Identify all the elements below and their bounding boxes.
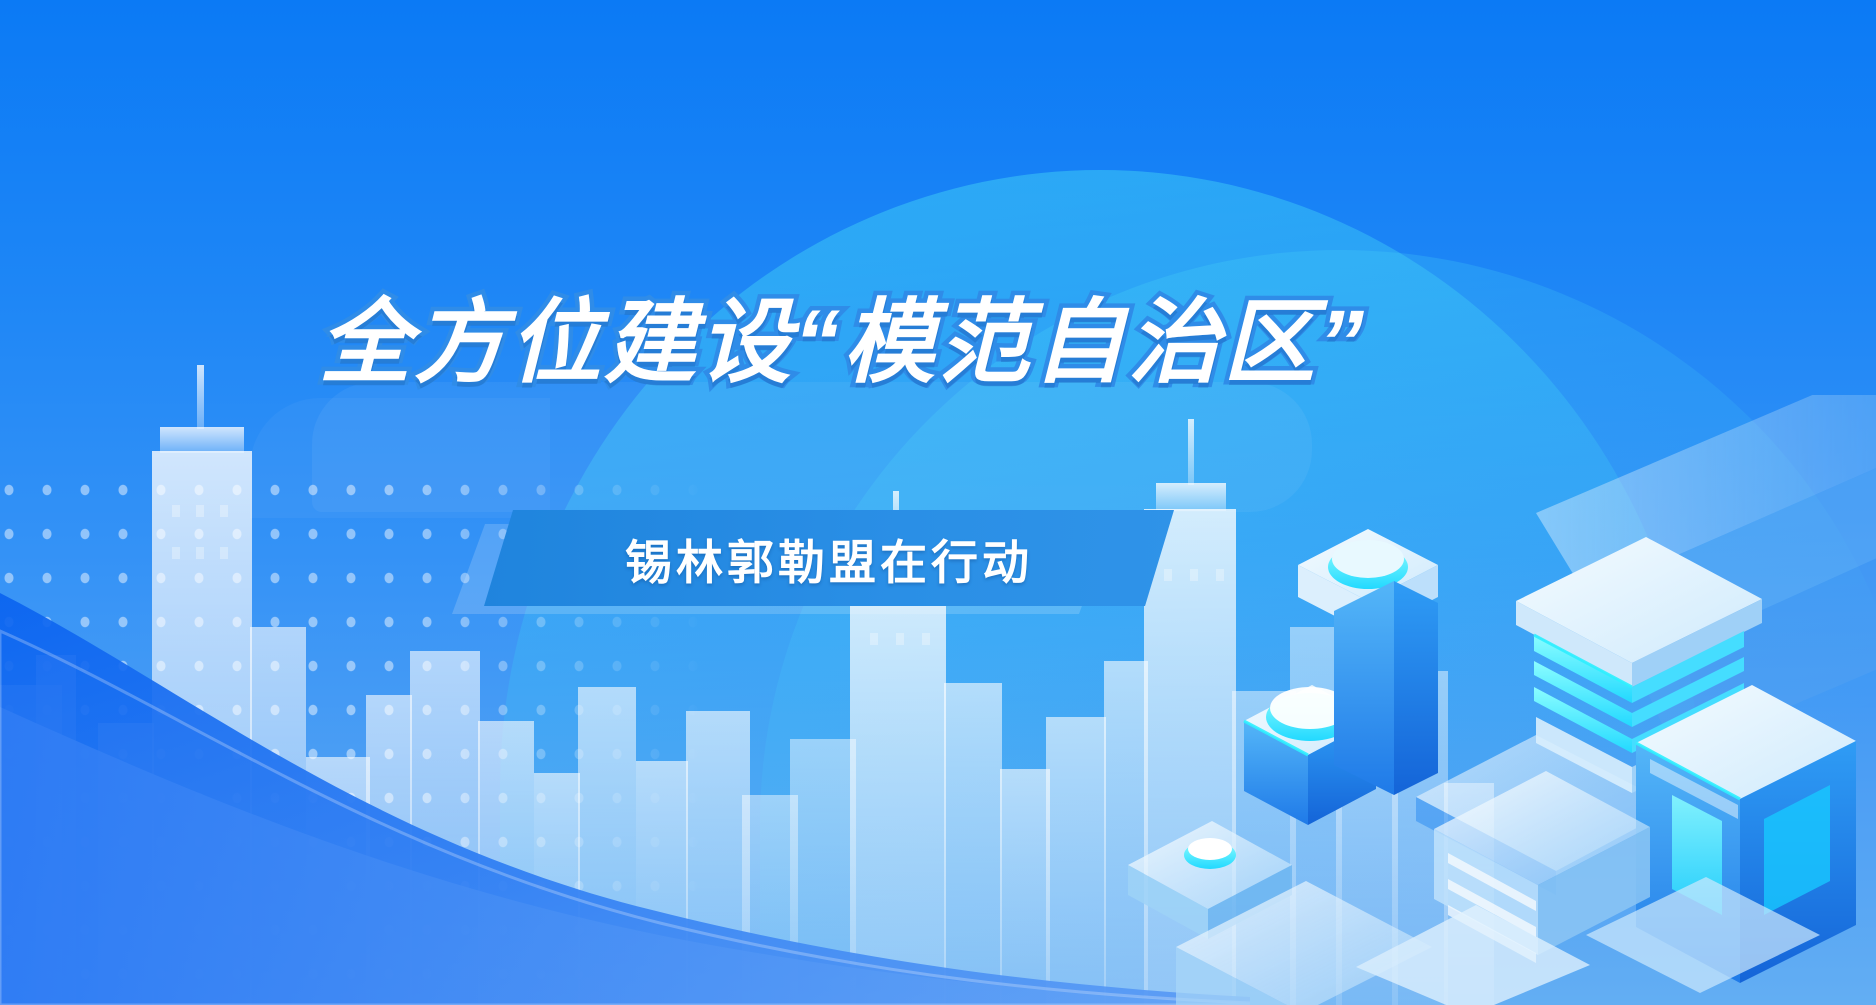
banner-headline: 全方位建设“模范自治区” xyxy=(0,292,1876,395)
subtitle-banner: 锡林郭勒盟在行动 xyxy=(452,510,1172,630)
promo-banner: 全方位建设“模范自治区” 锡林郭勒盟在行动 xyxy=(0,0,1876,1005)
headline-text: 全方位建设“模范自治区” xyxy=(319,292,1367,395)
isometric-smart-city-illustration xyxy=(1116,395,1876,1005)
subtitle-text: 锡林郭勒盟在行动 xyxy=(484,510,1174,606)
